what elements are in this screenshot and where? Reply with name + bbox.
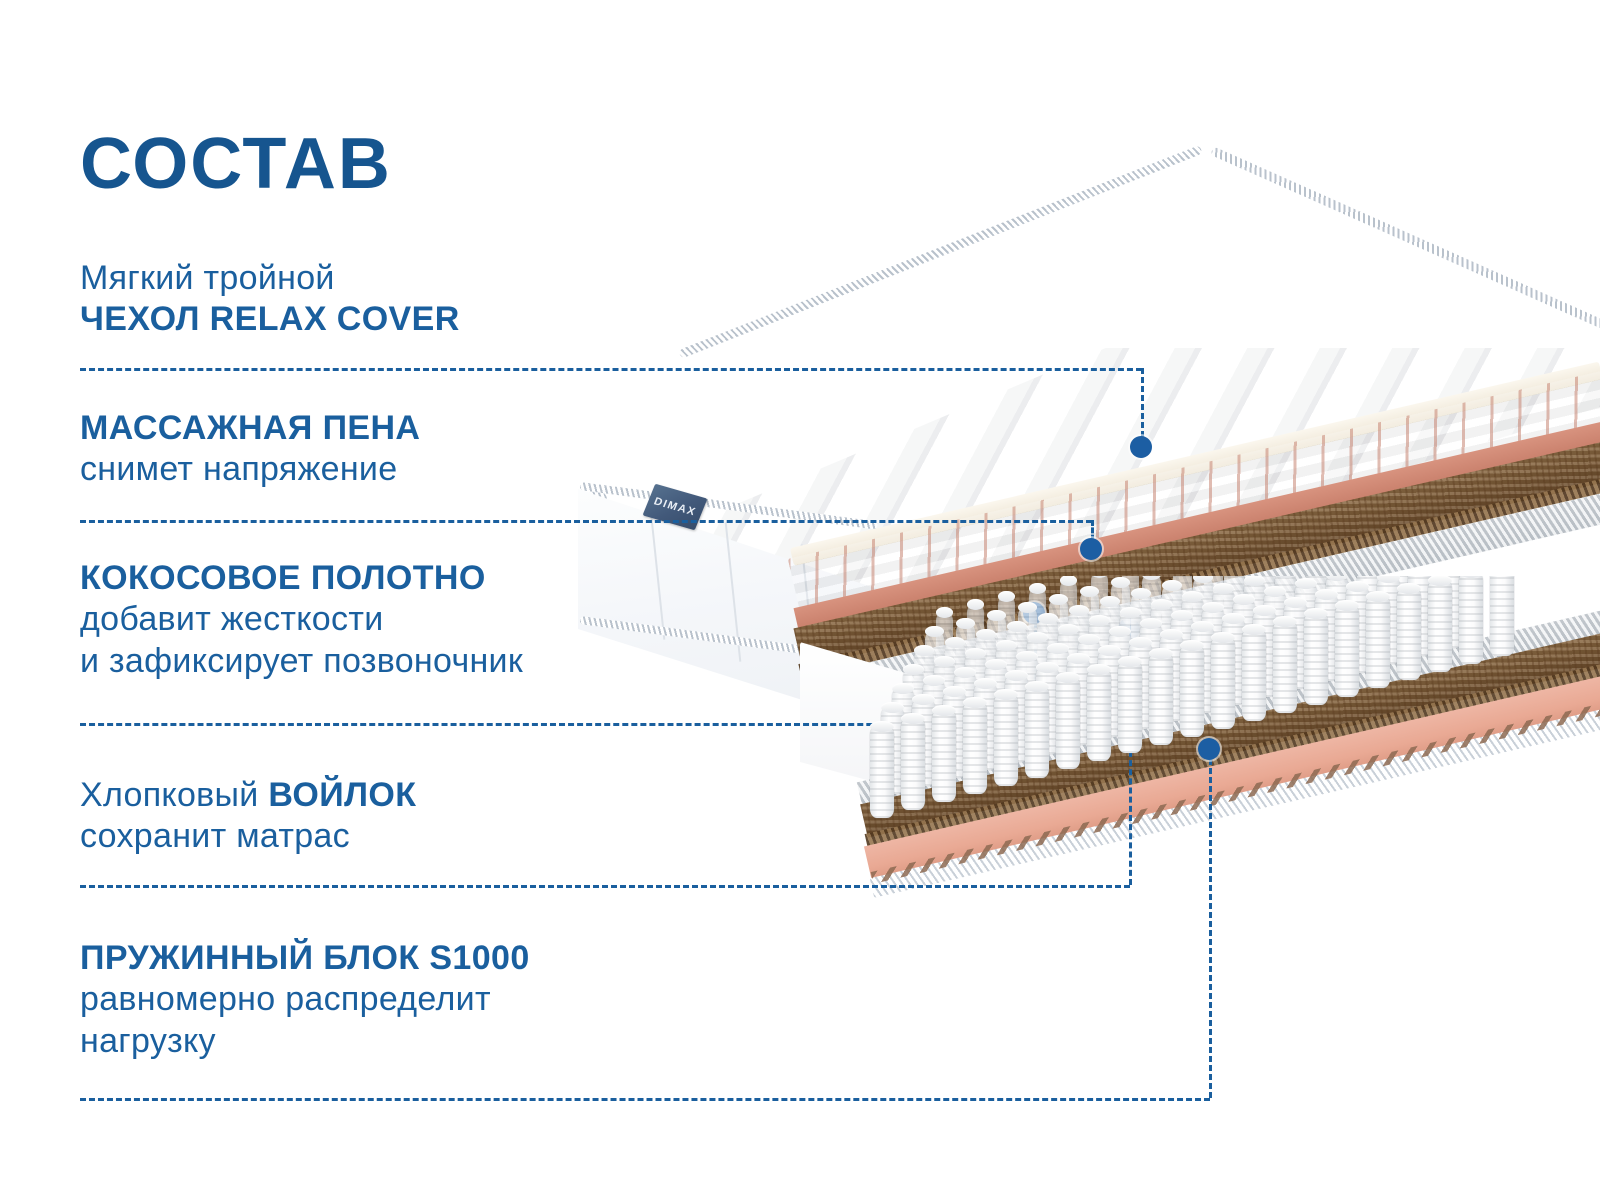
pocket-spring — [1397, 588, 1421, 680]
pocket-spring-cap — [956, 618, 975, 629]
connector-drop-cover — [1141, 368, 1144, 446]
pocket-spring — [1056, 677, 1080, 769]
pocket-spring-cap — [1180, 640, 1204, 651]
pocket-spring-cap — [945, 637, 965, 648]
pocket-spring-cap — [996, 640, 1017, 651]
pocket-spring-cap — [1036, 662, 1059, 673]
top-right-piping — [1210, 146, 1600, 329]
callout-spring-line2: равномерно распределит — [80, 979, 530, 1020]
callout-coconut-line1: КОКОСОВОЕ ПОЛОТНО — [80, 558, 523, 599]
pocket-spring — [1459, 576, 1483, 664]
pocket-spring-cap — [1202, 602, 1224, 613]
pocket-spring-cap — [965, 648, 986, 659]
mattress-illustration: DIMAX — [560, 290, 1600, 950]
callout-dot-cover — [1130, 436, 1152, 458]
pocket-spring — [1273, 621, 1297, 713]
connector-line-cover — [80, 368, 1142, 371]
pocket-spring-cap — [1273, 616, 1297, 627]
callout-dot-foam — [1080, 538, 1102, 560]
pocket-spring-cap — [881, 702, 904, 713]
pocket-spring — [901, 718, 925, 810]
callout-spring-line1: ПРУЖИННЫЙ БЛОК S1000 — [80, 938, 530, 979]
callout-dot-springs — [1198, 738, 1220, 760]
pocket-spring-cap — [1284, 597, 1307, 608]
callout-foam-line2: снимет напряжение — [80, 449, 420, 490]
pocket-spring-cap — [974, 678, 997, 689]
pocket-spring-cap — [1335, 600, 1359, 611]
callout-coconut-line3: и зафиксирует позвоночник — [80, 641, 523, 682]
pocket-spring-cap — [967, 599, 984, 610]
callout-spring-block: ПРУЖИННЫЙ БЛОК S1000 равномерно распреде… — [80, 938, 530, 1062]
pocket-spring-cap — [994, 689, 1018, 700]
pocket-spring — [1118, 661, 1142, 753]
pocket-spring — [994, 694, 1018, 786]
pocket-spring-cap — [1264, 586, 1286, 597]
pocket-spring-cap — [1018, 602, 1037, 613]
callout-coconut: КОКОСОВОЕ ПОЛОТНО добавит жесткости и за… — [80, 558, 523, 682]
pocket-spring-cap — [1222, 613, 1245, 624]
connector-line-felt — [80, 885, 1130, 888]
callout-cover-line1: Мягкий тройной — [80, 258, 460, 299]
pocket-spring — [963, 702, 987, 794]
callout-cover: Мягкий тройной ЧЕХОЛ RELAX COVER — [80, 258, 460, 341]
pocket-spring-cap — [870, 721, 894, 732]
pocket-spring-cap — [901, 713, 925, 724]
pocket-spring-cap — [1131, 588, 1151, 599]
pocket-spring-cap — [976, 629, 996, 640]
pocket-spring-cap — [923, 675, 945, 686]
pocket-spring — [1025, 686, 1049, 778]
pocket-spring-cap — [1213, 583, 1234, 594]
pocket-spring — [1490, 576, 1514, 656]
callout-felt: Хлопковый ВОЙЛОК сохранит матрас — [80, 775, 416, 858]
pocket-spring — [1428, 580, 1452, 672]
pocket-spring-cap — [985, 659, 1007, 670]
pocket-spring-cap — [1191, 621, 1214, 632]
pocket-spring-cap — [1025, 681, 1049, 692]
pocket-spring-cap — [1047, 643, 1069, 654]
pocket-spring-cap — [1038, 613, 1058, 624]
pocket-spring-cap — [954, 667, 976, 678]
callout-foam-line1: МАССАЖНАЯ ПЕНА — [80, 408, 420, 449]
pocket-spring-cap — [1211, 632, 1235, 643]
pocket-spring-cap — [914, 645, 934, 656]
infographic-canvas: СОСТАВ DIMAX — [0, 0, 1600, 1200]
pocket-spring-cap — [1069, 605, 1089, 616]
pocket-spring-cap — [925, 626, 944, 637]
callout-coconut-line2: добавит жесткости — [80, 599, 523, 640]
pocket-spring — [870, 726, 894, 818]
pocket-spring-cap — [1171, 610, 1193, 621]
pocket-spring — [1211, 637, 1235, 729]
pocket-spring — [1149, 653, 1173, 745]
pocket-spring-cap — [1029, 583, 1046, 594]
pocket-spring-cap — [892, 683, 914, 694]
pocket-spring-cap — [934, 656, 955, 667]
pocket-spring-cap — [1058, 624, 1079, 635]
pocket-spring — [1366, 596, 1390, 688]
connector-line-springs — [80, 1098, 1210, 1101]
pocket-spring — [1335, 605, 1359, 697]
pocket-spring-cap — [1233, 594, 1255, 605]
connector-drop-springs — [1209, 750, 1212, 1098]
top-edge-piping — [678, 145, 1202, 359]
pocket-spring-cap — [1304, 608, 1328, 619]
pocket-spring-cap — [1007, 621, 1027, 632]
callout-spring-line3: нагрузку — [80, 1021, 530, 1062]
pocket-spring-cap — [932, 705, 956, 716]
pocket-spring-cap — [1080, 586, 1099, 597]
pocket-spring-cap — [1060, 576, 1077, 586]
brand-tag-label: DIMAX — [652, 495, 698, 518]
pocket-spring-cap — [1151, 599, 1172, 610]
pocket-spring-cap — [1005, 670, 1028, 681]
callout-felt-line1: Хлопковый ВОЙЛОК — [80, 775, 416, 816]
pocket-spring-cap — [912, 694, 935, 705]
pocket-spring-cap — [1253, 605, 1276, 616]
pocket-spring — [1087, 669, 1111, 761]
pocket-spring-cap — [943, 686, 966, 697]
callout-cover-line2: ЧЕХОЛ RELAX COVER — [80, 299, 460, 340]
callout-felt-keyword: ВОЙЛОК — [268, 776, 416, 814]
pocket-spring-cap — [1016, 651, 1038, 662]
pocket-spring-cap — [1160, 629, 1183, 640]
pocket-spring-cap — [1182, 591, 1203, 602]
connector-line-foam — [80, 520, 1092, 523]
callout-felt-line2: сохранит матрас — [80, 816, 416, 857]
pocket-spring-cap — [1242, 624, 1266, 635]
pocket-spring-cap — [998, 591, 1015, 602]
pocket-spring-cap — [987, 610, 1006, 621]
pocket-spring — [1180, 645, 1204, 737]
pocket-spring — [1242, 629, 1266, 721]
pocket-spring-cap — [903, 664, 924, 675]
pocket-spring-cap — [1162, 580, 1182, 591]
pocket-spring-cap — [1027, 632, 1048, 643]
pocket-spring-cap — [1346, 581, 1369, 592]
pocket-spring-cap — [1295, 578, 1317, 589]
pocket-spring-cap — [963, 697, 987, 708]
callout-massage-foam: МАССАЖНАЯ ПЕНА снимет напряжение — [80, 408, 420, 491]
pocket-spring — [932, 710, 956, 802]
pocket-spring-cap — [1049, 594, 1068, 605]
callout-felt-prefix: Хлопковый — [80, 776, 268, 814]
pocket-spring-cap — [1315, 589, 1338, 600]
page-title: СОСТАВ — [80, 128, 392, 200]
pocket-spring-cap — [1244, 576, 1265, 586]
pocket-spring — [1304, 613, 1328, 705]
